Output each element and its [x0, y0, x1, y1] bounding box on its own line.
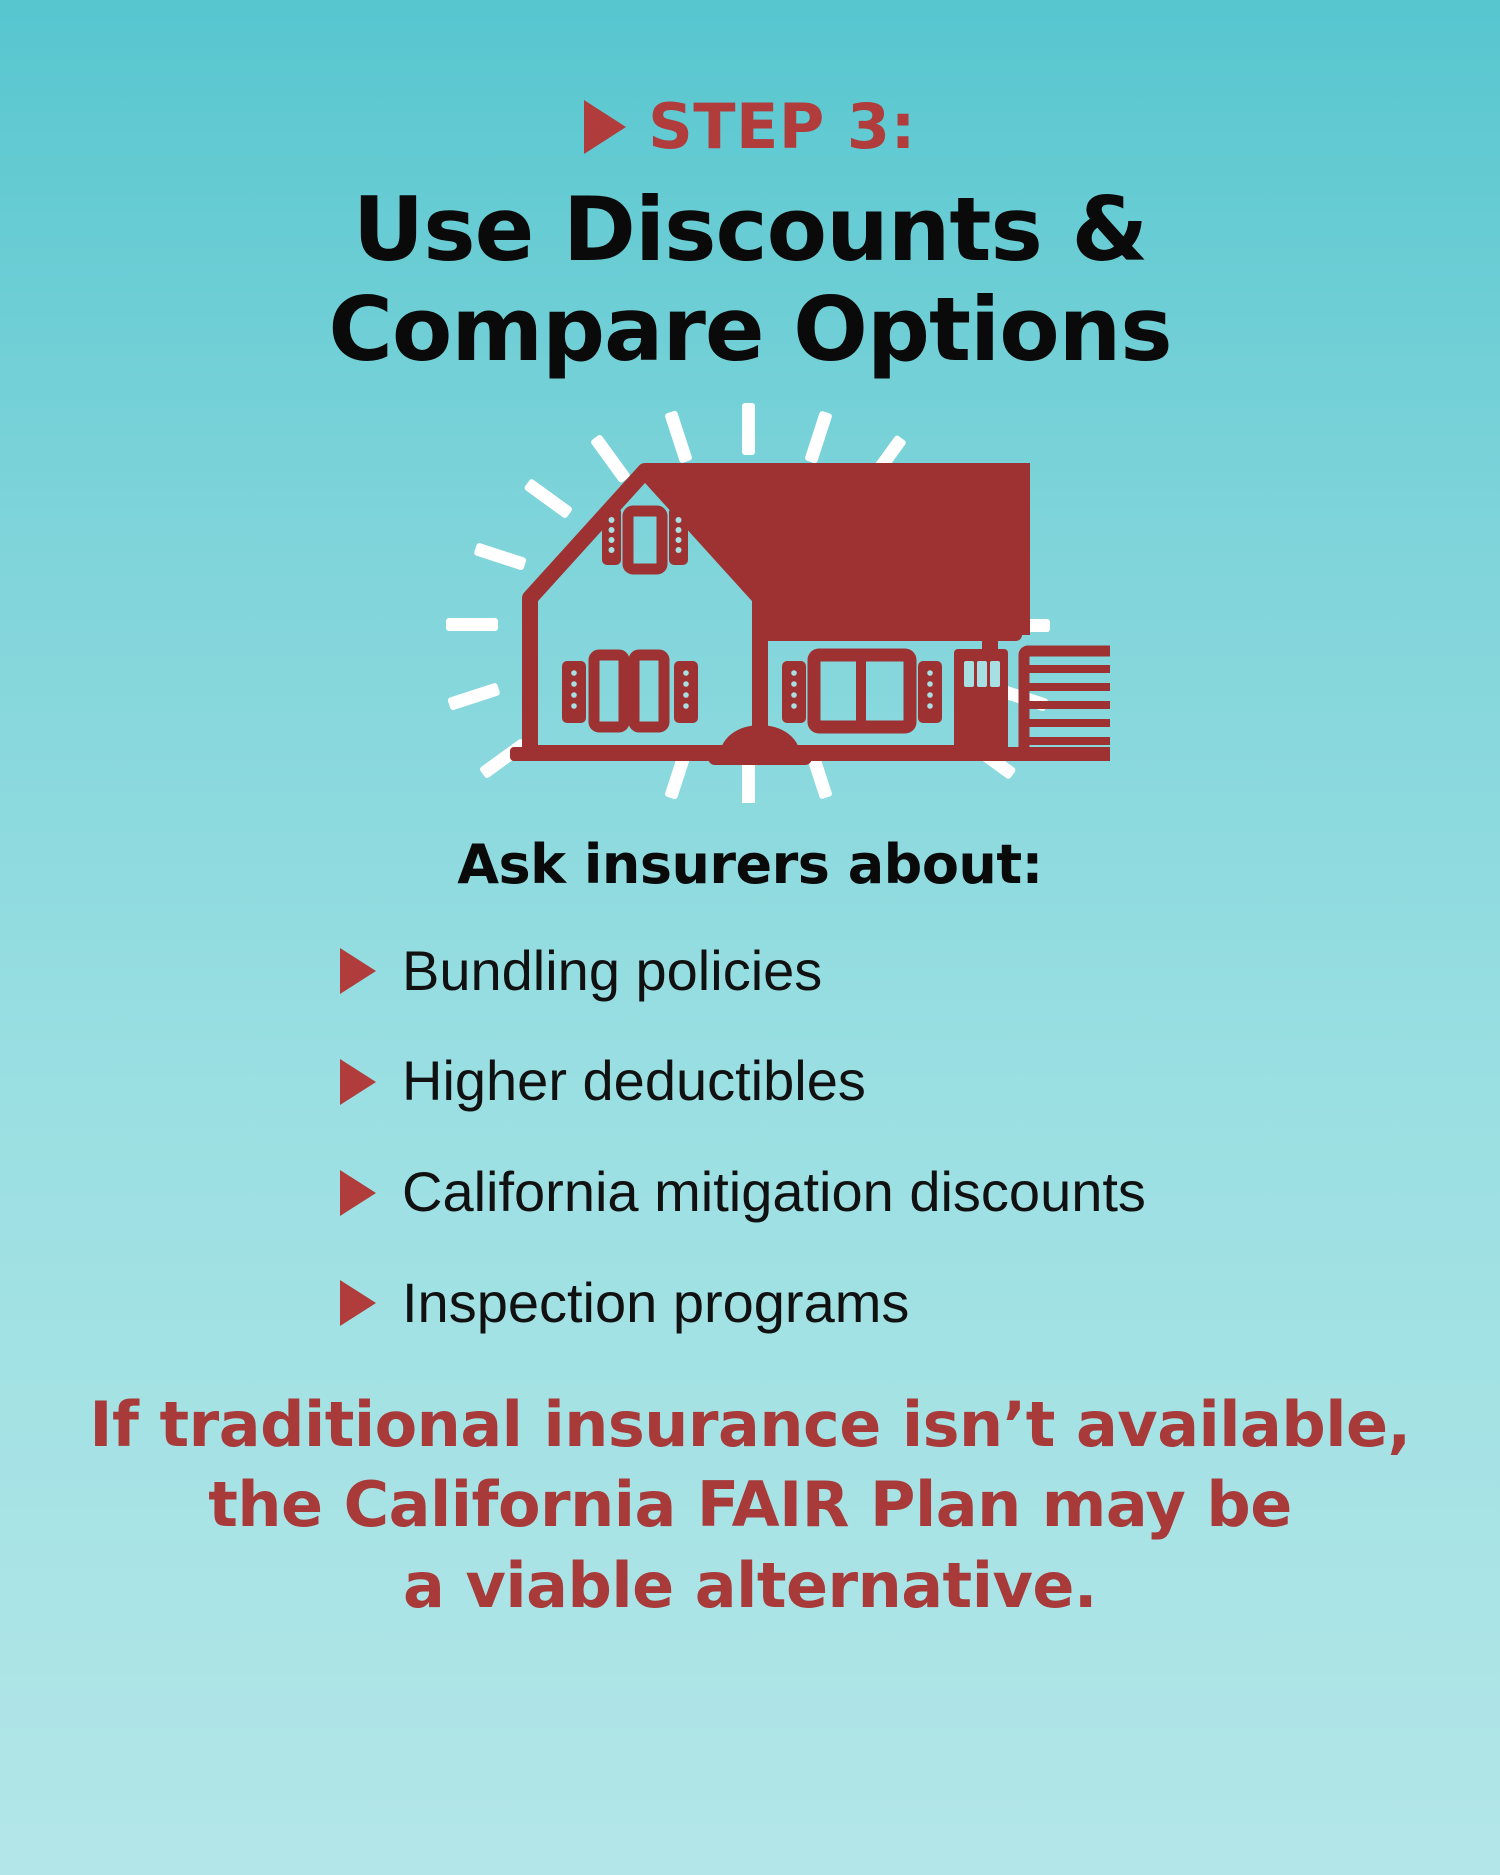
triangle-right-icon	[340, 1059, 376, 1105]
page-title-line-1: Use Discounts &	[0, 180, 1500, 280]
list-item: California mitigation discounts	[340, 1163, 1500, 1222]
list-item-label: Bundling policies	[402, 942, 822, 1001]
triangle-right-icon	[340, 1170, 376, 1216]
step-label: STEP 3:	[648, 96, 916, 158]
step-eyebrow: STEP 3:	[0, 0, 1500, 158]
ground-line	[510, 747, 1110, 761]
footnote-line-1: If traditional insurance isn’t available…	[0, 1385, 1500, 1466]
list-item-label: Higher deductibles	[402, 1052, 866, 1111]
footnote-line-3: a viable alternative.	[0, 1546, 1500, 1627]
attic-window	[602, 507, 688, 569]
list-item-label: Inspection programs	[402, 1274, 909, 1333]
list-item-label: California mitigation discounts	[402, 1163, 1146, 1222]
triangle-right-icon	[340, 948, 376, 994]
illustration-container	[0, 403, 1500, 823]
list-item: Higher deductibles	[340, 1052, 1500, 1111]
discount-list: Bundling policies Higher deductibles Cal…	[0, 942, 1500, 1333]
triangle-right-icon	[584, 100, 626, 154]
ask-heading: Ask insurers about:	[0, 833, 1500, 896]
page-title-line-2: Compare Options	[0, 280, 1500, 380]
footnote: If traditional insurance isn’t available…	[0, 1385, 1500, 1627]
list-item: Inspection programs	[340, 1274, 1500, 1333]
page-title: Use Discounts & Compare Options	[0, 180, 1500, 381]
garage-door	[1024, 651, 1110, 755]
list-item: Bundling policies	[340, 942, 1500, 1001]
house-group	[510, 463, 1110, 765]
window-left	[562, 655, 698, 727]
footnote-line-2: the California FAIR Plan may be	[0, 1465, 1500, 1546]
front-door	[954, 649, 1008, 755]
triangle-right-icon	[340, 1280, 376, 1326]
window-right	[782, 655, 942, 727]
shining-house-icon	[390, 403, 1110, 803]
infographic-page: STEP 3: Use Discounts & Compare Options	[0, 0, 1500, 1875]
